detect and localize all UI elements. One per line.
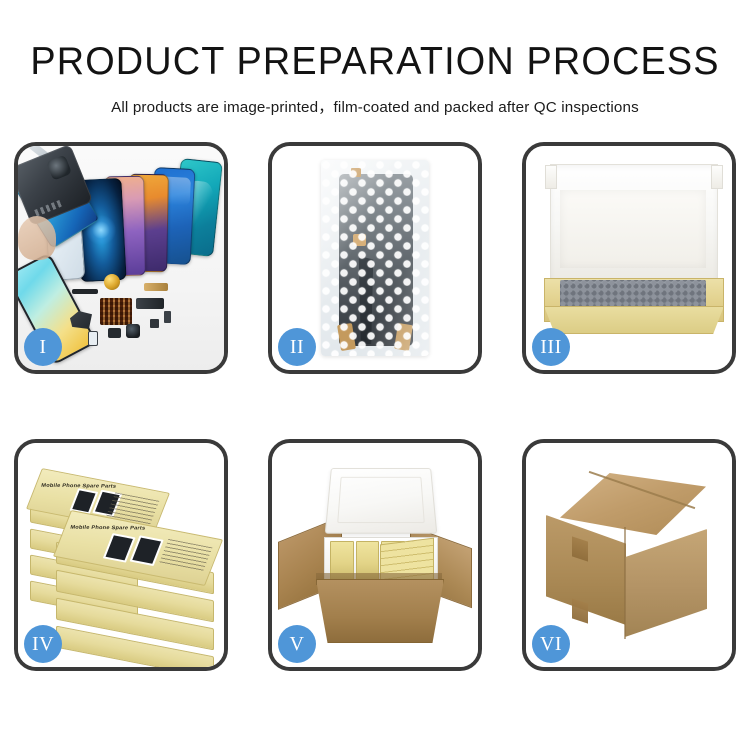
bubble-wrap-package [321,160,429,356]
chip-part-small [150,319,159,328]
flex-cable-part-c [144,283,168,291]
shipping-carton-right-face [625,529,707,637]
technician-hand [18,216,56,260]
page-header: PRODUCT PREPARATION PROCESS All products… [0,0,750,117]
process-step-panel-1[interactable]: I [14,142,228,374]
bracket-part-small [164,311,171,323]
step-badge-2: II [278,328,316,366]
step-badge-4: IV [24,625,62,663]
speaker-bar-part [72,289,98,294]
camera-module-part [126,324,140,338]
step-badge-5: V [278,625,316,663]
box-lid-inner-surface [560,190,706,268]
step-badge-1: I [24,328,62,366]
box-spec-text-block-front [159,539,212,572]
flex-cable-part-b [136,298,164,309]
carton-vertical-edge [624,527,626,639]
plastic-sheen-overlay [321,160,429,356]
process-step-panel-3[interactable]: III [522,142,736,374]
step-badge-3: III [532,328,570,366]
vibration-motor-part [104,274,120,290]
sim-tray-part [88,331,98,346]
box-label-text-front: Mobile Phone Spare Parts [70,525,146,532]
process-step-grid: I II III [14,142,736,671]
process-step-panel-4[interactable]: Mobile Phone Spare Parts Mobile Phone Sp… [14,439,228,671]
carton-tape-lower [572,598,588,623]
retail-box-stack: Mobile Phone Spare Parts Mobile Phone Sp… [28,465,218,655]
grey-foam-insert [560,280,706,308]
process-step-panel-5[interactable]: V [268,439,482,671]
process-step-panel-2[interactable]: II [268,142,482,374]
page-subtitle: All products are image-printed，film-coat… [0,84,750,117]
foam-cooler-lid [325,468,438,534]
small-connector-part [108,328,121,338]
process-step-panel-6[interactable]: VI [522,439,736,671]
page-title: PRODUCT PREPARATION PROCESS [11,0,739,84]
step-badge-6: VI [532,625,570,663]
kraft-tray-front-wall [544,306,724,334]
logic-board-chip-part [100,298,132,325]
carton-body-front [316,579,444,643]
